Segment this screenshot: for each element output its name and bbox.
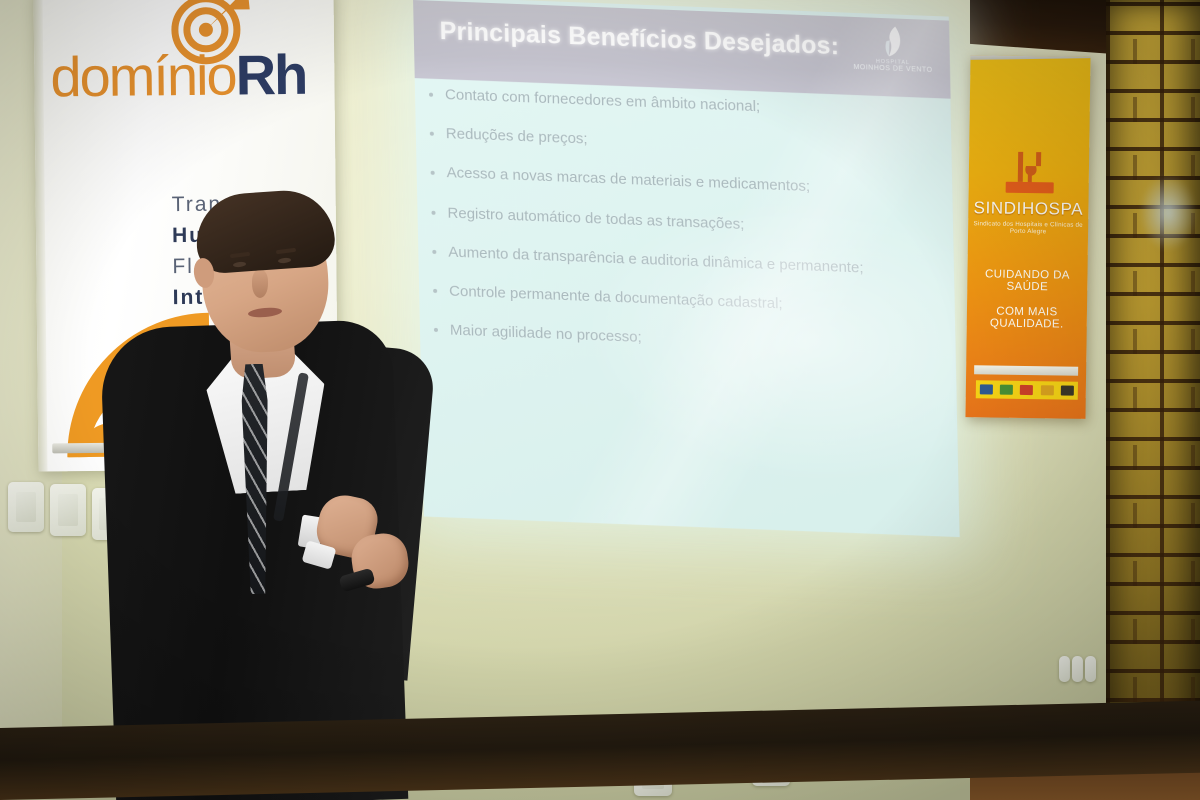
bullet-text: Registro automático de todas as transaçõ… — [447, 203, 744, 234]
presenter-in-suit — [90, 196, 450, 800]
sindihospa-rollup-banner: SINDIHOSPA Sindicato dos Hospitais e Clí… — [965, 55, 1090, 419]
brand-name-secondary: Rh — [235, 43, 306, 107]
switch-rocker — [16, 492, 36, 522]
bullet-text: Controle permanente da documentação cada… — [449, 281, 783, 313]
brick-wall-light-reflection — [1140, 175, 1196, 250]
bullet-text: Contato com fornecedores em âmbito nacio… — [445, 85, 761, 116]
switch-rocker — [58, 494, 78, 525]
banner-divider — [974, 365, 1078, 375]
sindihospa-tagline-line1: CUIDANDO DA SAÚDE — [967, 268, 1087, 294]
slide-bullet-item: Aumento da transparência e auditoria din… — [432, 242, 932, 280]
right-switch-3 — [1085, 656, 1096, 682]
bullet-dot-icon — [431, 171, 435, 175]
sindihospa-tagline-line2: COM MAIS QUALIDADE. — [967, 305, 1087, 331]
sindihospa-logo-icon — [1002, 150, 1059, 199]
bullet-dot-icon — [430, 132, 434, 136]
sindihospa-name: SINDIHOSPA — [968, 198, 1088, 220]
light-switch-plate-2 — [50, 484, 86, 536]
sindihospa-subtitle: Sindicato dos Hospitais e Clínicas de Po… — [968, 220, 1088, 236]
brick-wall — [1106, 0, 1200, 760]
bullet-text: Aumento da transparência e auditoria din… — [448, 242, 916, 279]
hospital-moinhos-de-vento-logo: HOSPITAL MOINHOS DE VENTO — [849, 23, 936, 82]
slide-bullet-list: Contato com fornecedores em âmbito nacio… — [429, 85, 935, 379]
brand-name-primary: domínio — [50, 43, 236, 108]
light-switch-plate-1 — [8, 482, 44, 532]
slide-bullet-item: Maior agilidade no processo; — [434, 320, 934, 358]
bullet-text: Acesso a novas marcas de materiais e med… — [446, 164, 810, 197]
slide-bullet-item: Registro automático de todas as transaçõ… — [431, 202, 931, 240]
banner-top-rail — [966, 55, 1090, 60]
sponsor-logo — [1041, 385, 1054, 395]
projection-screen: Principais Benefícios Desejados: HOSPITA… — [413, 0, 960, 537]
slide-bullet-item: Controle permanente da documentação cada… — [433, 281, 933, 319]
sponsor-logo — [979, 384, 992, 394]
bullet-text: Maior agilidade no processo; — [450, 321, 642, 348]
hair — [193, 187, 336, 274]
dominio-rh-wordmark: domínioRh — [50, 46, 336, 105]
slide-bullet-item: Reduções de preços; — [430, 124, 930, 162]
sponsor-logo — [1061, 385, 1074, 395]
sponsor-logo-strip — [976, 380, 1078, 399]
right-switch-2 — [1072, 656, 1083, 682]
sponsor-logo — [1020, 385, 1033, 395]
right-switch-1 — [1059, 656, 1070, 682]
sponsor-logo — [1000, 385, 1013, 395]
slide-bullet-item: Acesso a novas marcas de materiais e med… — [430, 163, 930, 201]
presentation-photo-scene: Principais Benefícios Desejados: HOSPITA… — [0, 0, 1200, 800]
bullet-dot-icon — [429, 93, 433, 97]
bullet-text: Reduções de preços; — [446, 124, 588, 149]
nose — [252, 270, 268, 298]
